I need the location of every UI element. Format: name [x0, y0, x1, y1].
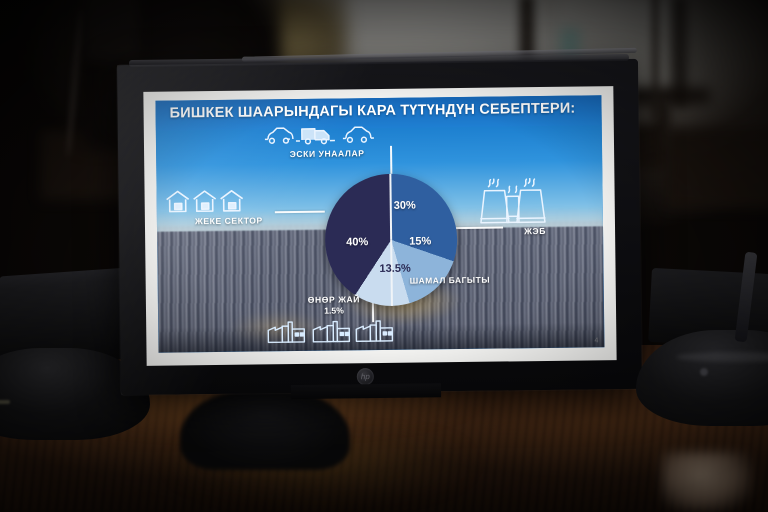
callout-industry: ӨНӨР ЖАЙ 1.5%	[266, 294, 403, 347]
callout-old-vehicles: ЭСКИ УНААЛАР	[262, 120, 392, 160]
hp-logo	[357, 368, 374, 385]
callout-label: ЖЕКЕ СЕКТОР	[165, 215, 293, 227]
pie-chart: 30% 15% 13.5% 40%	[324, 173, 458, 307]
callout-label: ЖЭБ	[475, 225, 595, 236]
presentation-slide: БИШКЕК ШААРЫНДАГЫ КАРА ТҮТҮНДҮН СЕБЕПТЕР…	[155, 95, 604, 352]
monitor-screen: БИШКЕК ШААРЫНДАГЫ КАРА ТҮТҮНДҮН СЕБЕПТЕР…	[143, 86, 616, 366]
conference-unit-center[interactable]	[180, 390, 350, 470]
old-vehicles-icon	[262, 120, 392, 148]
pie-label-15: 15%	[409, 235, 431, 247]
private-houses-icon	[165, 187, 293, 215]
pie-label-13-5: 13.5%	[379, 263, 410, 275]
hand	[662, 452, 752, 512]
power-plant-icon	[474, 177, 595, 224]
pie-label-40: 40%	[346, 236, 368, 248]
unit-button[interactable]	[700, 368, 708, 376]
callout-percent: 1.5%	[266, 305, 402, 317]
pie-label-30: 30%	[394, 200, 416, 212]
callout-wind-direction: ШАМАЛ БАГЫТЫ	[410, 274, 520, 285]
callout-label: ӨНӨР ЖАЙ	[266, 294, 402, 306]
callout-label: ШАМАЛ БАГЫТЫ	[410, 274, 520, 285]
status-led	[0, 400, 10, 404]
monitor-stand-neck	[291, 383, 441, 399]
callout-private-sector: ЖЕКЕ СЕКТОР	[165, 187, 293, 227]
slide-number: 4	[594, 337, 598, 344]
callout-label: ЭСКИ УНААЛАР	[262, 148, 392, 160]
photo-scene: БИШКЕК ШААРЫНДАГЫ КАРА ТҮТҮНДҮН СЕБЕПТЕР…	[0, 0, 768, 512]
presentation-monitor: БИШКЕК ШААРЫНДАГЫ КАРА ТҮТҮНДҮН СЕБЕПТЕР…	[117, 59, 642, 395]
callout-power-plant: ЖЭБ	[474, 177, 595, 236]
factory-icon	[266, 317, 402, 345]
